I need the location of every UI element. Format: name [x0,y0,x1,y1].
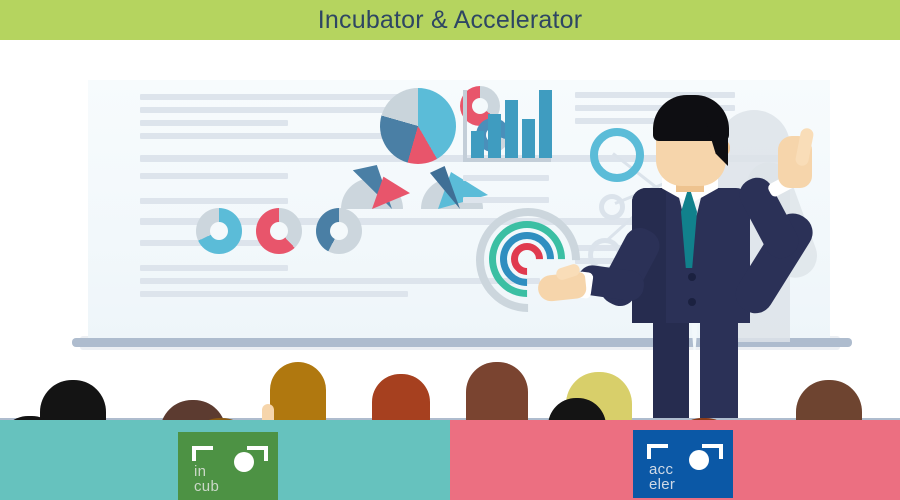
accelerator-badge-line1: acc [649,462,729,477]
column-chart-bar [505,100,518,158]
incubator-badge-line2: cub [194,479,274,494]
column-chart-y-axis [463,90,467,162]
illustration-canvas: Incubator & Accelerator [0,0,900,500]
node-ring-primary [590,128,644,182]
frame-corner-top-left-icon [647,444,668,459]
header-banner: Incubator & Accelerator [0,0,900,40]
placeholder-line [463,197,549,203]
placeholder-line [140,133,408,139]
frame-corner-top-left-icon [192,446,213,461]
accelerator-badge-line2: eler [649,477,729,492]
scene [0,40,900,420]
placeholder-line [575,92,735,98]
page-title: Incubator & Accelerator [0,0,900,40]
presenter-jacket-button [688,273,696,281]
accelerator-badge[interactable]: acc eler [633,430,733,498]
placeholder-line [140,94,410,100]
placeholder-line [140,265,288,271]
placeholder-line [140,120,288,126]
column-chart-bar [471,131,484,158]
main-pie-chart [380,88,456,164]
presenter-jacket-button [688,298,696,306]
donut-red-row-hole [270,222,288,240]
donut-red-small-hole [472,98,488,114]
placeholder-line [140,291,408,297]
column-chart-bar [522,119,535,158]
node-ring-small [599,194,625,220]
donut-teal-row-hole [210,222,228,240]
placeholder-line [140,198,288,204]
incubator-badge-line1: in [194,464,274,479]
placeholder-line [463,175,549,181]
column-chart-bar [488,114,501,158]
placeholder-line [140,107,410,113]
column-chart-x-axis [463,158,551,162]
incubator-badge[interactable]: in cub [178,432,278,500]
placeholder-line [140,173,288,179]
donut-navy-row-hole [330,222,348,240]
column-chart-bar [539,90,552,158]
